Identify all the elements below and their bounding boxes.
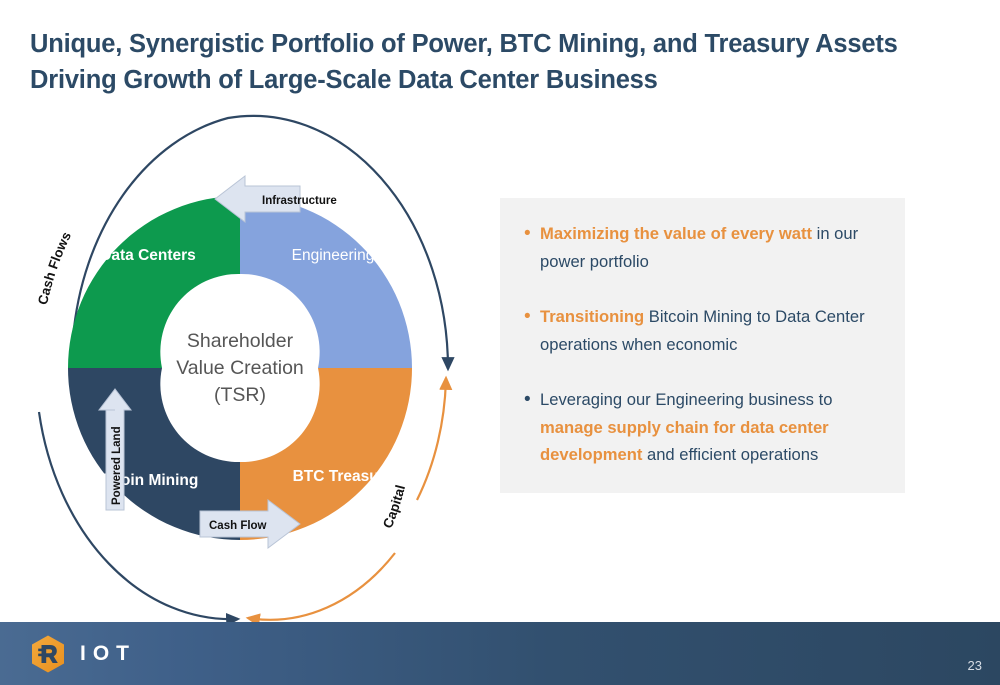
shareholder-value-wheel-diagram: Cash Flows Capital Data Centers Engineer… [10,110,490,630]
bullet-item: • Leveraging our Engineering business to… [518,386,883,469]
center-line-1: Shareholder [187,330,294,352]
brand-logo: IOT [28,634,136,674]
capital-arc-label: Capital [380,483,408,530]
brand-wordmark: IOT [80,642,136,666]
quadrant-label-btc-treasury: BTC Treasury [293,468,394,485]
bullet-marker: • [518,220,540,247]
footer-bar: IOT 23 [0,622,1000,685]
bullet-1-highlight-1: Maximizing the value of every watt [540,224,812,243]
quadrant-label-engineering: Engineering [292,247,375,264]
bullet-text: Leveraging our Engineering business to m… [540,386,883,469]
center-line-2: Value Creation [176,357,304,379]
bullet-marker: • [518,303,540,330]
bullet-text: Transitioning Bitcoin Mining to Data Cen… [540,303,883,358]
block-arrow-infrastructure-label: Infrastructure [262,195,337,207]
center-hub-label: Shareholder Value Creation (TSR) [176,330,304,406]
block-arrow-cash-flow-label: Cash Flow [209,520,267,532]
highlights-panel: • Maximizing the value of every watt in … [500,198,905,493]
bullet-3-plain-2: and efficient operations [642,445,818,464]
quadrant-label-data-centers: Data Centers [100,247,196,264]
block-arrow-powered-land-label: Powered Land [111,426,123,505]
center-line-3: (TSR) [214,384,266,406]
riot-hexagon-logo-icon [28,634,68,674]
bullet-marker: • [518,386,540,413]
bullet-2-highlight-1: Transitioning [540,307,644,326]
bullet-item: • Transitioning Bitcoin Mining to Data C… [518,303,883,358]
page-number: 23 [968,658,982,673]
bullet-item: • Maximizing the value of every watt in … [518,220,883,275]
bullet-text: Maximizing the value of every watt in ou… [540,220,883,275]
page-title: Unique, Synergistic Portfolio of Power, … [30,26,970,98]
bullet-3-plain-1: Leveraging our Engineering business to [540,390,832,409]
cash-flows-arc-label: Cash Flows [35,229,74,306]
